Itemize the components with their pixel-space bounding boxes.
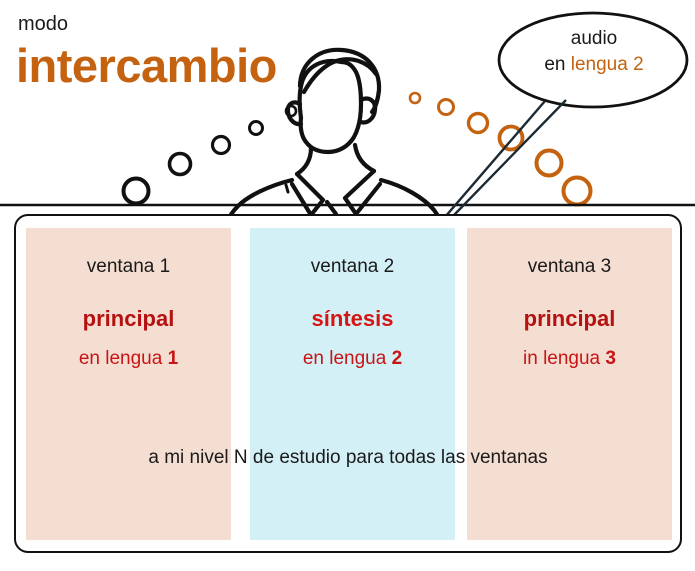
window-language-prefix-3: in lengua bbox=[523, 348, 605, 369]
window-column-2[interactable]: ventana 2 síntesis en lengua 2 bbox=[250, 228, 455, 540]
panel-caption: a mi nivel N de estudio para todas las v… bbox=[14, 447, 682, 469]
speech-bubble-line-2: en lengua 2 bbox=[508, 52, 680, 78]
window-language-number-3: 3 bbox=[605, 348, 616, 369]
window-role-2: síntesis bbox=[250, 306, 455, 332]
window-label-1: ventana 1 bbox=[26, 256, 231, 278]
window-language-1: en lengua 1 bbox=[26, 348, 231, 370]
circles-orange-descending-icon bbox=[410, 93, 591, 205]
window-language-number-1: 1 bbox=[168, 348, 179, 369]
window-column-1[interactable]: ventana 1 principal en lengua 1 bbox=[26, 228, 231, 540]
window-language-prefix-1: en lengua bbox=[79, 348, 168, 369]
window-label-3: ventana 3 bbox=[467, 256, 672, 278]
kicker-modo: modo bbox=[18, 14, 68, 34]
window-role-1: principal bbox=[26, 306, 231, 332]
speech-bubble-line-1: audio bbox=[508, 26, 680, 52]
window-role-3: principal bbox=[467, 306, 672, 332]
circles-black-ascending-icon bbox=[124, 106, 297, 204]
page-title: intercambio bbox=[16, 42, 277, 89]
window-language-3: in lengua 3 bbox=[467, 348, 672, 370]
window-language-prefix-2: en lengua bbox=[303, 348, 392, 369]
speech-bubble-line-2-highlight: lengua 2 bbox=[571, 54, 644, 75]
speech-bubble-text: audio en lengua 2 bbox=[508, 26, 680, 77]
window-column-3[interactable]: ventana 3 principal in lengua 3 bbox=[467, 228, 672, 540]
speech-bubble-line-2-prefix: en bbox=[544, 54, 570, 75]
window-label-2: ventana 2 bbox=[250, 256, 455, 278]
window-language-2: en lengua 2 bbox=[250, 348, 455, 370]
diagram-canvas: modo intercambio bbox=[0, 0, 695, 571]
window-language-number-2: 2 bbox=[392, 348, 403, 369]
